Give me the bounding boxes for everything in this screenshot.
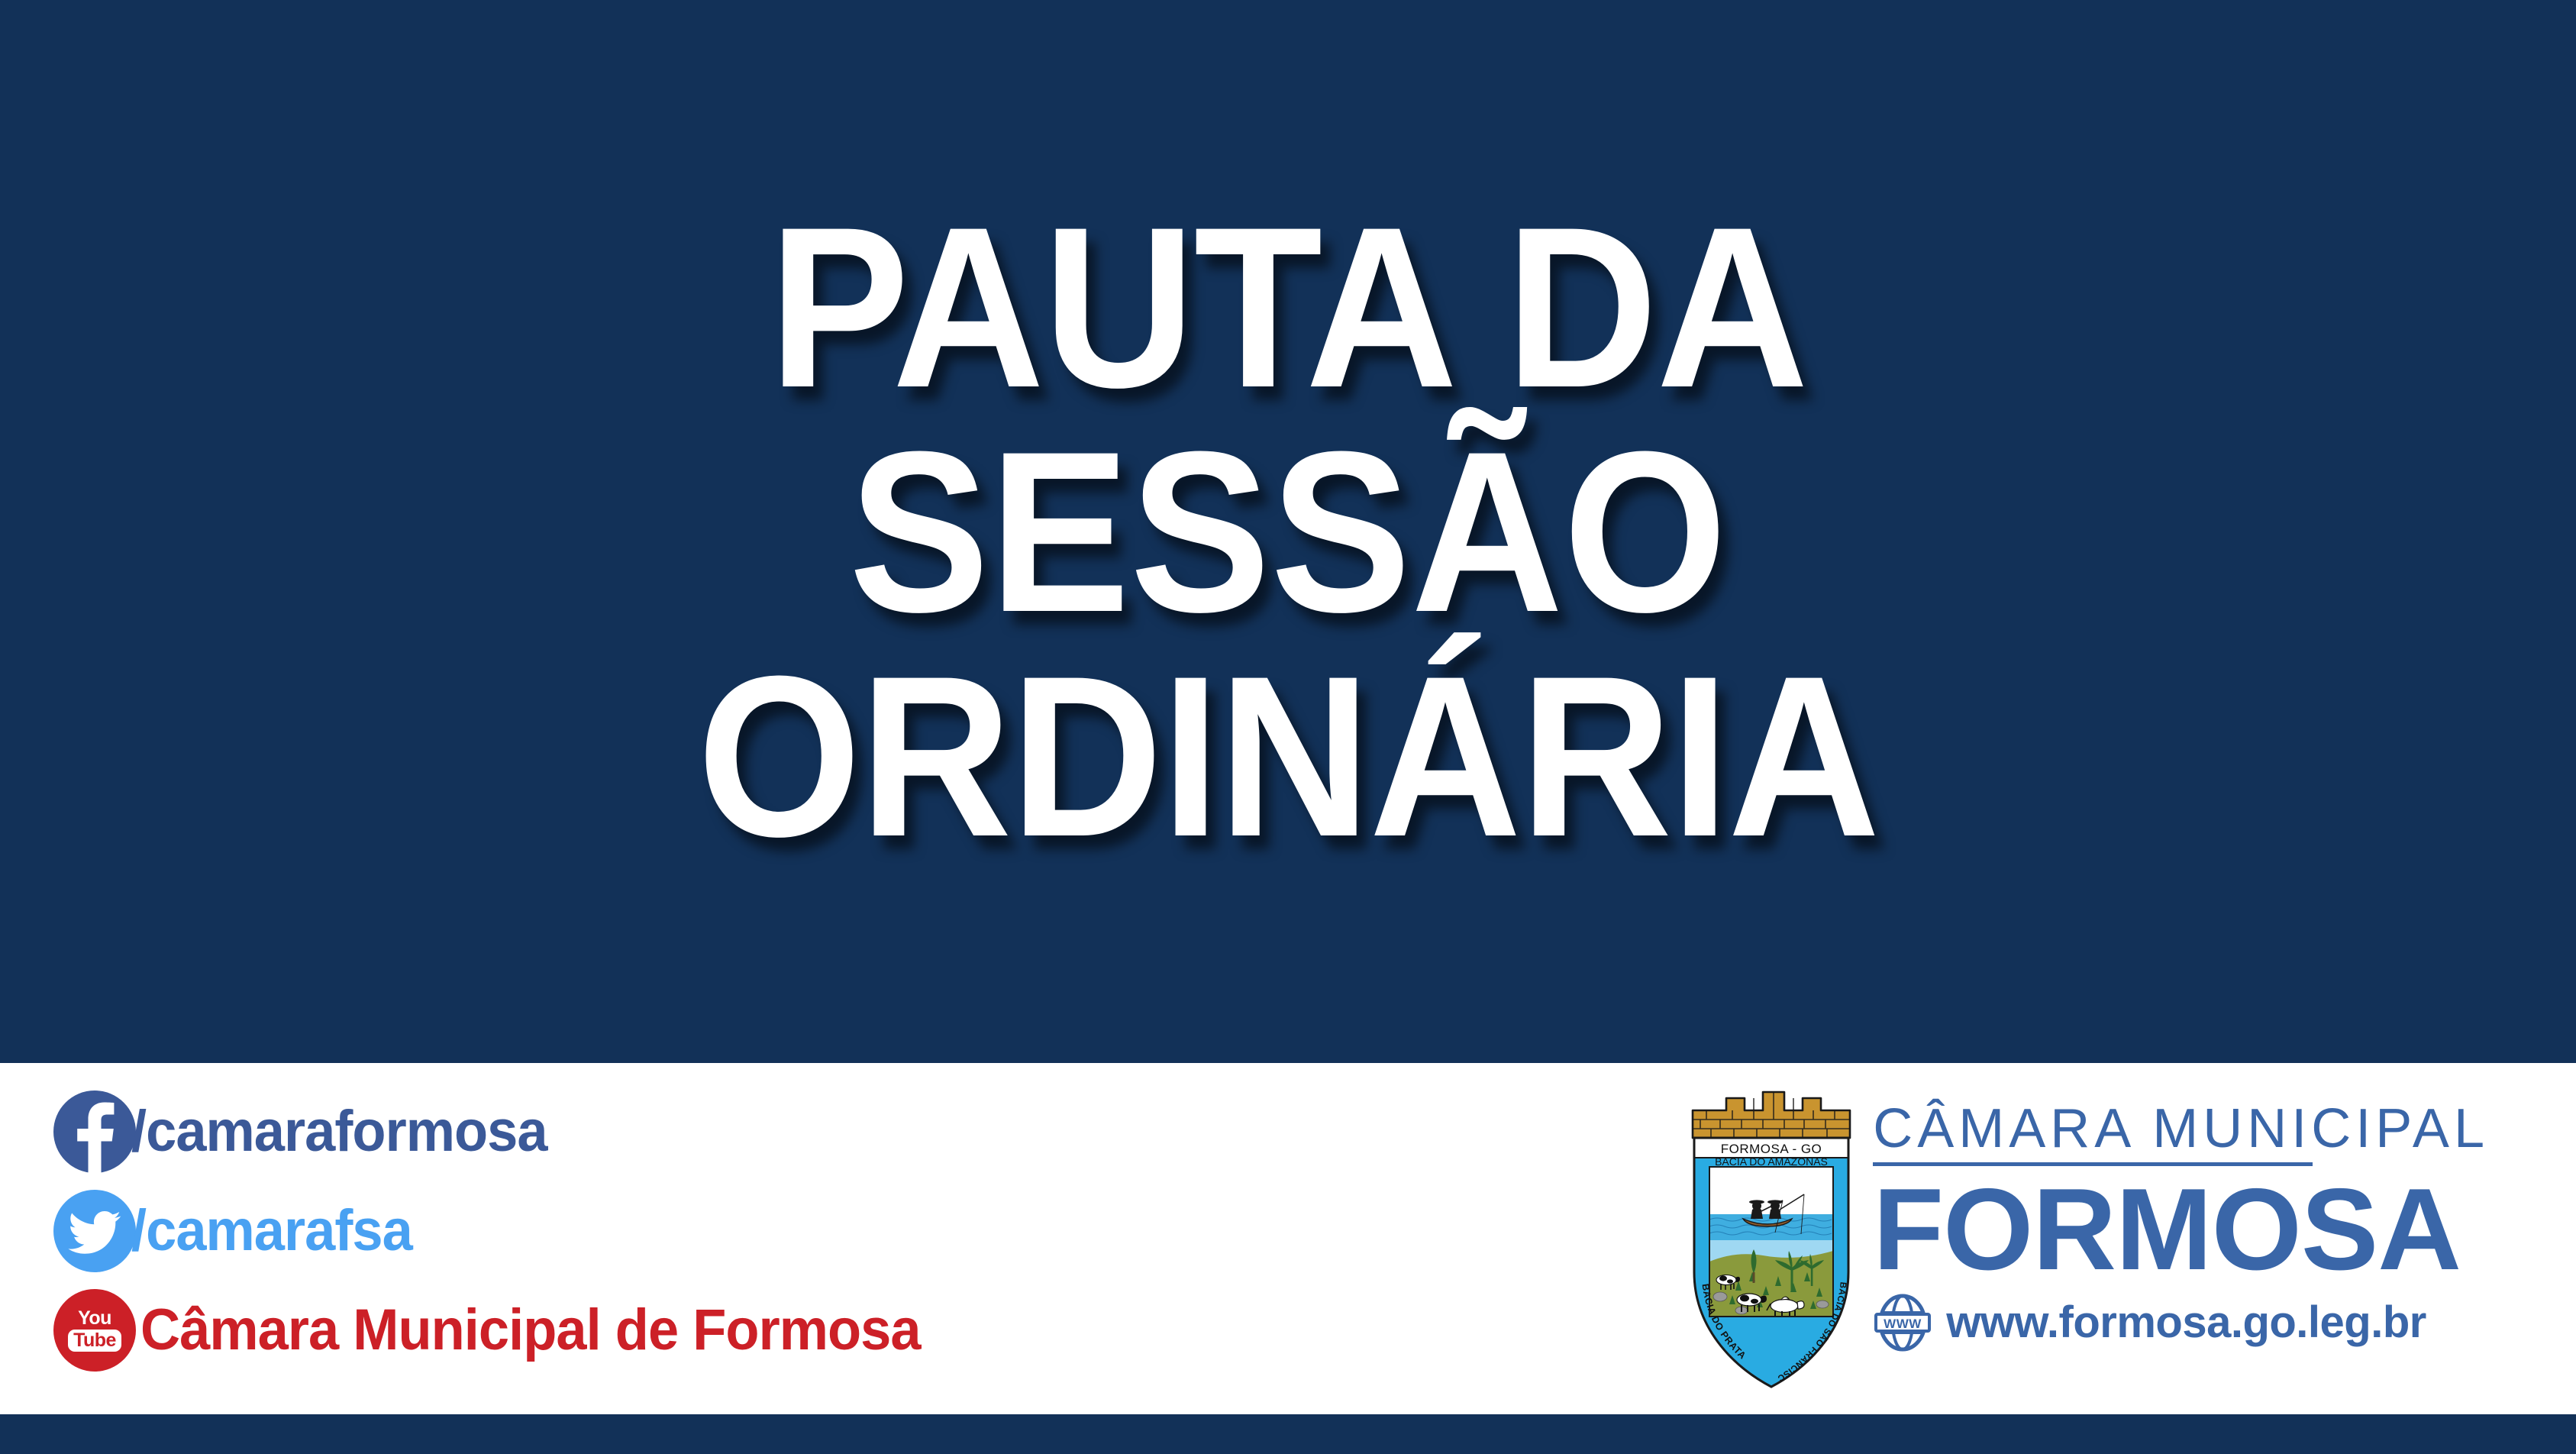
brand-website-row[interactable]: WWW www.formosa.go.leg.br xyxy=(1873,1293,2489,1352)
crest-crown xyxy=(1693,1092,1850,1138)
svg-text:WWW: WWW xyxy=(1884,1317,1922,1331)
facebook-icon[interactable] xyxy=(53,1090,136,1173)
brand-block: FORMOSA - GO BACIA DO AMAZONAS BACIA DO … xyxy=(1690,1081,2489,1396)
title-line-3: ORDINÁRIA xyxy=(697,644,1878,868)
brand-formosa: FORMOSA xyxy=(1873,1169,2489,1290)
social-link-youtube[interactable]: You Tube Câmara Municipal de Formosa xyxy=(53,1288,961,1373)
youtube-glyph-top: You xyxy=(78,1309,111,1328)
title-line-2: SESSÃO xyxy=(697,419,1878,644)
facebook-handle[interactable]: /camaraformosa xyxy=(131,1103,547,1161)
youtube-glyph-box: Tube xyxy=(68,1330,121,1352)
twitter-handle[interactable]: /camarafsa xyxy=(131,1202,412,1260)
brand-camara-municipal: CÂMARA MUNICIPAL xyxy=(1873,1100,2489,1158)
www-globe-icon: WWW xyxy=(1873,1293,1932,1352)
social-link-facebook[interactable]: /camaraformosa xyxy=(53,1089,961,1175)
youtube-handle[interactable]: Câmara Municipal de Formosa xyxy=(140,1301,921,1359)
brand-text-block: CÂMARA MUNICIPAL FORMOSA WWW xyxy=(1873,1081,2489,1352)
title-line-1: PAUTA DA xyxy=(697,195,1878,419)
page-title: PAUTA DA SESSÃO ORDINÁRIA xyxy=(697,195,1878,868)
formosa-coat-of-arms-icon: FORMOSA - GO BACIA DO AMAZONAS BACIA DO … xyxy=(1690,1081,1853,1396)
hero-section: PAUTA DA SESSÃO ORDINÁRIA xyxy=(0,0,2576,1063)
footer-section: /camaraformosa /camarafsa You Tube xyxy=(0,1063,2576,1414)
poster-canvas: PAUTA DA SESSÃO ORDINÁRIA /camaraformosa xyxy=(0,0,2576,1454)
social-link-twitter[interactable]: /camarafsa xyxy=(53,1188,961,1274)
youtube-glyph: You Tube xyxy=(66,1307,123,1354)
youtube-glyph-bottom: Tube xyxy=(73,1330,116,1350)
brand-website-url[interactable]: www.formosa.go.leg.br xyxy=(1946,1300,2426,1346)
crest-band-formosa-go: FORMOSA - GO xyxy=(1721,1142,1822,1156)
bottom-accent-bar xyxy=(0,1414,2576,1454)
crest-inner-scene xyxy=(1709,1167,1833,1319)
youtube-icon[interactable]: You Tube xyxy=(53,1289,136,1372)
social-links-list: /camaraformosa /camarafsa You Tube xyxy=(53,1089,961,1373)
crest-band-bacia-amazonas: BACIA DO AMAZONAS xyxy=(1715,1155,1828,1168)
twitter-icon[interactable] xyxy=(53,1190,136,1272)
